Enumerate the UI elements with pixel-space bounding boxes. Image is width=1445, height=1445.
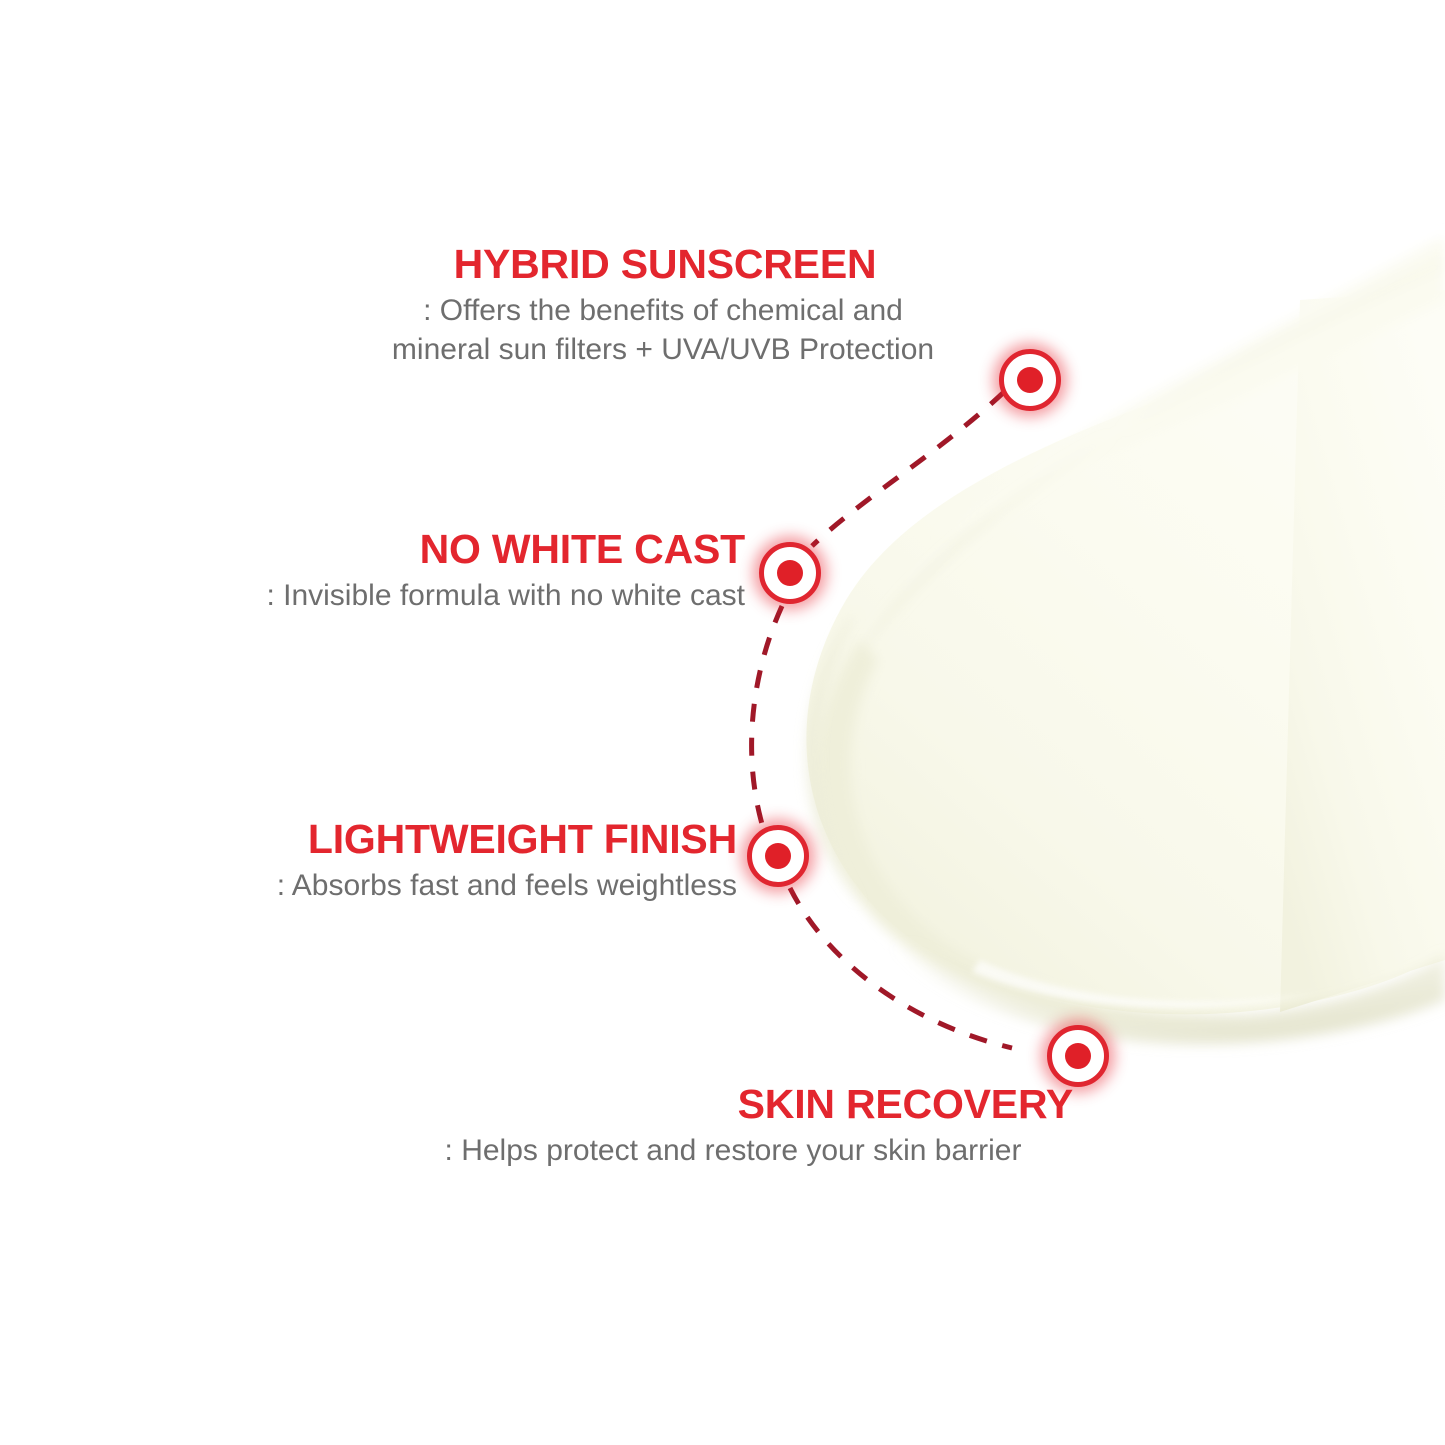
feature-description-line2: mineral sun filters + UVA/UVB Protection: [353, 331, 973, 369]
feature-title: SKIN RECOVERY: [393, 1083, 1073, 1126]
marker-core-icon: [1065, 1043, 1091, 1069]
dashed-connector-path: [0, 0, 1445, 1445]
feature-hybrid-sunscreen: HYBRID SUNSCREEN : Offers the benefits o…: [353, 243, 973, 369]
feature-description-line1: : Absorbs fast and feels weightless: [177, 867, 737, 905]
marker-dot-skin-recovery[interactable]: [1047, 1025, 1109, 1087]
feature-title: NO WHITE CAST: [185, 528, 745, 571]
marker-dot-no-white-cast[interactable]: [759, 542, 821, 604]
product-swatch: [0, 0, 1445, 1445]
infographic-canvas: HYBRID SUNSCREEN : Offers the benefits o…: [0, 0, 1445, 1445]
feature-no-white-cast: NO WHITE CAST : Invisible formula with n…: [185, 528, 745, 616]
feature-title: HYBRID SUNSCREEN: [353, 243, 977, 286]
feature-description-line1: : Helps protect and restore your skin ba…: [393, 1132, 1073, 1170]
marker-core-icon: [777, 560, 803, 586]
marker-core-icon: [765, 843, 791, 869]
marker-dot-lightweight-finish[interactable]: [747, 825, 809, 887]
marker-dot-hybrid-sunscreen[interactable]: [999, 349, 1061, 411]
marker-core-icon: [1017, 367, 1043, 393]
feature-title: LIGHTWEIGHT FINISH: [177, 818, 737, 861]
feature-lightweight-finish: LIGHTWEIGHT FINISH : Absorbs fast and fe…: [177, 818, 737, 906]
feature-skin-recovery: SKIN RECOVERY : Helps protect and restor…: [393, 1083, 1073, 1171]
feature-description-line1: : Offers the benefits of chemical and: [353, 292, 973, 330]
feature-description-line1: : Invisible formula with no white cast: [185, 577, 745, 615]
